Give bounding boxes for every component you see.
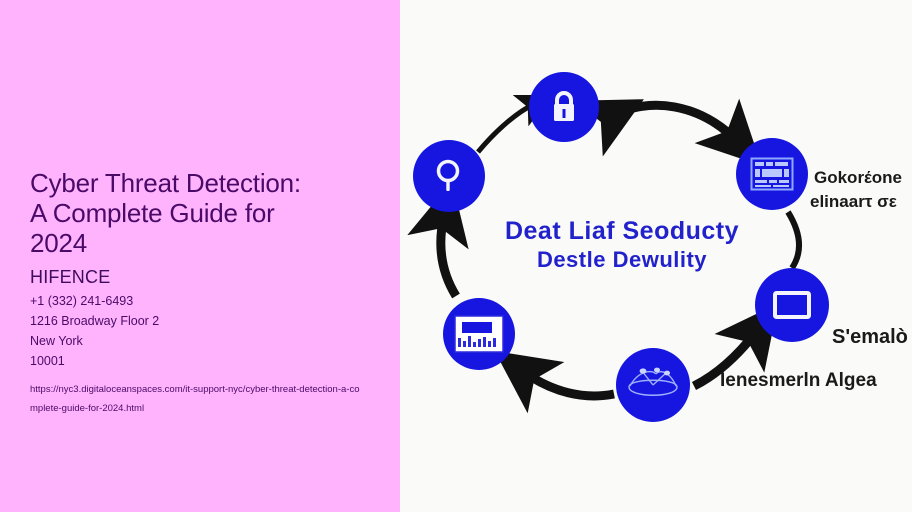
- diagram-arrows-layer: [400, 0, 912, 512]
- network-icon: [626, 365, 680, 405]
- label-monitor: S'emalò: [832, 326, 908, 349]
- label-network: Ienesmerln Algea: [720, 370, 877, 392]
- padlock-icon: [549, 90, 579, 124]
- monitor-icon: [773, 291, 811, 319]
- arrow-dashboard-to-search: [441, 216, 456, 296]
- article-info-content: Cyber Threat Detection: A Complete Guide…: [30, 168, 382, 418]
- contact-phone[interactable]: +1 (332) 241-6493: [30, 291, 382, 311]
- page-title: Cyber Threat Detection: A Complete Guide…: [30, 168, 382, 258]
- arrow-lock-report: [612, 105, 736, 140]
- contact-street: 1216 Broadway Floor 2: [30, 311, 382, 331]
- label-document-line-2: elinaarτ σε: [810, 192, 897, 212]
- brand-name: HIFENCE: [30, 266, 382, 288]
- node-padlock[interactable]: [529, 72, 599, 142]
- source-url-link[interactable]: https://nyc3.digitaloceanspaces.com/it-s…: [30, 380, 365, 418]
- screenshot-root: Cyber Threat Detection: A Complete Guide…: [0, 0, 912, 512]
- node-dashboard[interactable]: [443, 298, 515, 370]
- arrow-search-to-lock: [478, 104, 534, 152]
- node-magnifier[interactable]: [413, 140, 485, 212]
- dashboard-icon: [454, 315, 504, 353]
- cycle-diagram-panel: Deat Liaf Seoducty Destle Dewulity: [400, 0, 912, 512]
- arrow-report-to-monitor: [788, 212, 799, 268]
- magnifier-icon: [434, 158, 464, 194]
- node-network[interactable]: [616, 348, 690, 422]
- contact-zip: 10001: [30, 351, 382, 371]
- article-info-panel: Cyber Threat Detection: A Complete Guide…: [0, 0, 400, 512]
- node-monitor[interactable]: [755, 268, 829, 342]
- document-icon: [750, 157, 794, 191]
- arrow-network-to-dashboard: [524, 372, 614, 396]
- node-document[interactable]: [736, 138, 808, 210]
- contact-city: New York: [30, 331, 382, 351]
- label-document-line-1: Gοkοrέοne: [814, 168, 902, 188]
